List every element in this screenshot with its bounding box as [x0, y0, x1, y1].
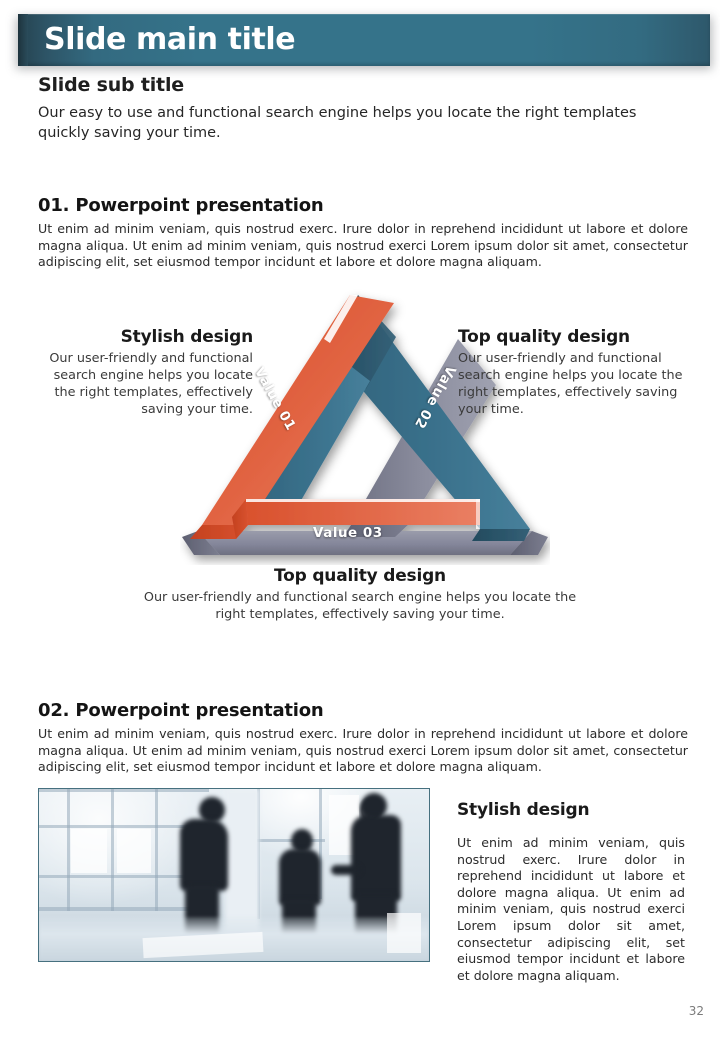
- callout-left: Stylish design Our user-friendly and fun…: [38, 327, 253, 418]
- person-silhouette-arm: [331, 865, 361, 875]
- callout-right-body: Our user-friendly and functional search …: [458, 350, 683, 418]
- banner-left-cap: [18, 14, 28, 66]
- slide-main-title: Slide main title: [44, 22, 295, 58]
- callout-bottom: Top quality design Our user-friendly and…: [140, 566, 580, 623]
- window-mullion: [111, 789, 114, 911]
- office-photo: [38, 788, 430, 962]
- slide-header-banner: Slide main title: [0, 14, 720, 68]
- triangle-band-label-03: Value 03: [313, 525, 383, 541]
- section-01-paragraph: Ut enim ad minim veniam, quis nostrud ex…: [38, 221, 688, 271]
- window-mullion: [39, 789, 209, 792]
- photo-side-title: Stylish design: [457, 800, 589, 820]
- photo-side-body: Ut enim ad minim veniam, quis nostrud ex…: [457, 835, 685, 984]
- person-silhouette: [351, 815, 401, 901]
- person-silhouette: [180, 819, 228, 891]
- person-silhouette: [279, 849, 321, 905]
- callout-left-title: Stylish design: [38, 327, 253, 347]
- slide-intro-paragraph: Our easy to use and functional search en…: [38, 103, 688, 143]
- page-number: 32: [689, 1004, 704, 1018]
- callout-left-body: Our user-friendly and functional search …: [38, 350, 253, 418]
- callout-right: Top quality design Our user-friendly and…: [458, 327, 683, 418]
- section-01-heading: 01. Powerpoint presentation: [38, 195, 324, 216]
- section-02-heading: 02. Powerpoint presentation: [38, 700, 324, 721]
- window-mullion: [67, 789, 70, 911]
- section-02-paragraph: Ut enim ad minim veniam, quis nostrud ex…: [38, 726, 688, 776]
- window-mullion: [39, 907, 209, 911]
- slide-sub-title: Slide sub title: [38, 74, 184, 96]
- callout-bottom-title: Top quality design: [140, 566, 580, 586]
- window-pane: [117, 829, 151, 873]
- window-pane: [71, 829, 107, 873]
- callout-bottom-body: Our user-friendly and functional search …: [140, 589, 580, 623]
- window-mullion: [155, 789, 158, 911]
- callout-right-title: Top quality design: [458, 327, 683, 347]
- paper-sheet: [387, 913, 421, 953]
